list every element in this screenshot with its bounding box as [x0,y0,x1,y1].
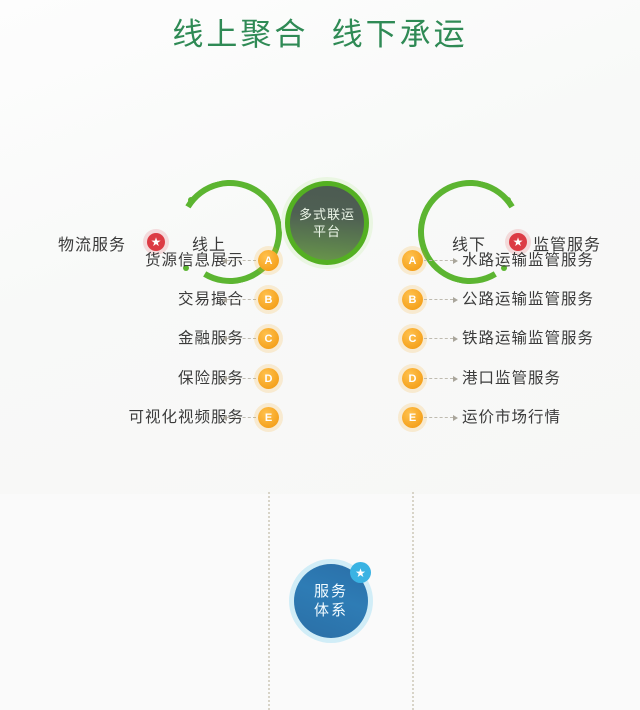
connector-left-E [222,407,256,428]
node-left-C[interactable]: C [258,328,279,349]
dashed-line [227,260,256,261]
connector-left-B [222,289,256,310]
node-right-B[interactable]: B [402,289,423,310]
star-badge-icon: ★ [350,562,371,583]
connector-right-A [424,250,458,271]
node-right-D[interactable]: D [402,368,423,389]
dashed-line [227,338,256,339]
connector-left-A [222,250,256,271]
node-right-C[interactable]: C [402,328,423,349]
connector-right-E [424,407,458,428]
dashed-line [227,299,256,300]
connector-right-D [424,368,458,389]
node-right-A[interactable]: A [402,250,423,271]
node-right-E[interactable]: E [402,407,423,428]
row-label-right-C: 铁路运输监管服务 [462,328,594,349]
node-left-D[interactable]: D [258,368,279,389]
online-arc-cap-top-icon [188,197,194,203]
page-title: 线上聚合 线下承运 [0,14,640,56]
row-label-right-D: 港口监管服务 [462,368,561,389]
row-label-right-E: 运价市场行情 [462,407,561,428]
connector-right-C [424,328,458,349]
arrow-right-icon [453,376,458,382]
left-spine-divider [268,492,270,710]
connector-left-D [222,368,256,389]
arrow-right-icon [453,258,458,264]
dashed-line [227,417,256,418]
infographic-canvas: 线上聚合 线下承运 多式联运 平台 物流服务 ★ 线上 线下 ★ 监管服务 服务… [0,0,640,494]
node-left-B[interactable]: B [258,289,279,310]
offline-arc-cap-top-icon [505,197,511,203]
service-matrix: 服务 体系 ★ 货源信息展示AA水路运输监管服务交易撮合BB公路运输监管服务金融… [0,230,640,494]
dashed-line [424,260,453,261]
dashed-line [424,378,453,379]
right-spine-divider [412,492,414,710]
dashed-line [227,378,256,379]
node-left-A[interactable]: A [258,250,279,271]
service-system-label-line2: 体系 [314,601,348,620]
arrow-right-icon [453,336,458,342]
dashed-line [424,417,453,418]
dashed-line [424,338,453,339]
arrow-right-icon [453,297,458,303]
row-label-right-B: 公路运输监管服务 [462,289,594,310]
service-system-label-line1: 服务 [314,582,348,601]
row-label-right-A: 水路运输监管服务 [462,250,594,271]
top-flow-band: 多式联运 平台 物流服务 ★ 线上 线下 ★ 监管服务 [0,85,640,215]
platform-label-line1: 多式联运 [299,206,355,223]
connector-right-B [424,289,458,310]
connector-left-C [222,328,256,349]
node-left-E[interactable]: E [258,407,279,428]
dashed-line [424,299,453,300]
arrow-right-icon [453,415,458,421]
